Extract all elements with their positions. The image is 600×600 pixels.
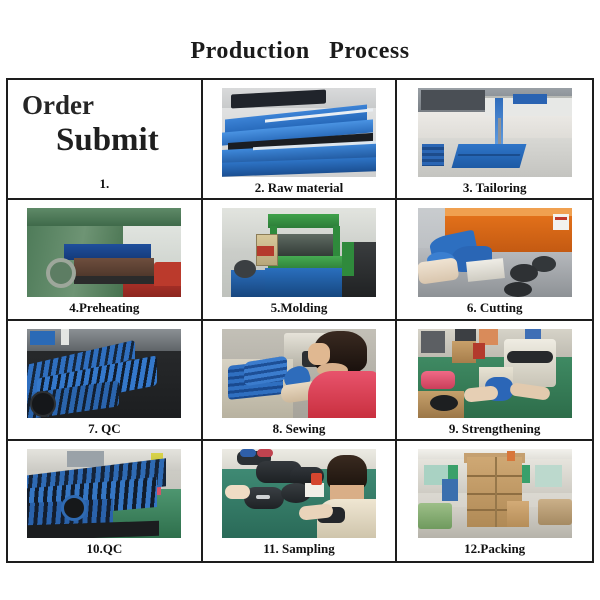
process-photo-qc-1 bbox=[27, 329, 181, 418]
process-caption-9: 9. Strengthening bbox=[449, 421, 541, 436]
process-cell-5[interactable]: 5.Molding bbox=[203, 200, 398, 320]
process-caption-1: 1. bbox=[99, 176, 109, 192]
process-cell-11[interactable]: 11. Sampling bbox=[203, 441, 398, 561]
process-caption-3: 3. Tailoring bbox=[463, 180, 527, 195]
process-caption-11: 11. Sampling bbox=[263, 541, 335, 556]
process-cell-8[interactable]: 8. Sewing bbox=[203, 321, 398, 441]
process-caption-4: 4.Preheating bbox=[69, 300, 139, 315]
process-photo-qc-2 bbox=[27, 449, 181, 538]
process-caption-5: 5.Molding bbox=[271, 300, 328, 315]
process-photo-preheating bbox=[27, 208, 181, 297]
page-title: Production Process bbox=[0, 38, 600, 65]
process-photo-strengthening bbox=[418, 329, 572, 418]
submit-label: Submit bbox=[8, 122, 201, 158]
process-photo-sewing bbox=[222, 329, 376, 418]
process-caption-6: 6. Cutting bbox=[467, 300, 523, 315]
process-photo-cutting bbox=[418, 208, 572, 297]
process-caption-7: 7. QC bbox=[88, 421, 121, 436]
process-photo-tailoring bbox=[418, 88, 572, 177]
process-caption-12: 12.Packing bbox=[464, 541, 525, 556]
process-cell-4[interactable]: 4.Preheating bbox=[8, 200, 203, 320]
order-label: Order bbox=[8, 90, 201, 120]
process-caption-2: 2. Raw material bbox=[255, 180, 343, 195]
process-cell-12[interactable]: 12.Packing bbox=[397, 441, 592, 561]
process-cell-9[interactable]: 9. Strengthening bbox=[397, 321, 592, 441]
process-photo-molding bbox=[222, 208, 376, 297]
process-cell-7[interactable]: 7. QC bbox=[8, 321, 203, 441]
process-photo-raw-material bbox=[222, 88, 376, 177]
process-caption-10: 10.QC bbox=[86, 541, 122, 556]
process-cell-2[interactable]: 2. Raw material bbox=[203, 80, 398, 200]
process-cell-1[interactable]: Order Submit 1. bbox=[8, 80, 203, 200]
production-process-page: Production Process Order Submit 1. 2. Ra… bbox=[0, 0, 600, 600]
process-caption-8: 8. Sewing bbox=[273, 421, 326, 436]
process-cell-6[interactable]: 6. Cutting bbox=[397, 200, 592, 320]
process-photo-packing bbox=[418, 449, 572, 538]
process-cell-3[interactable]: 3. Tailoring bbox=[397, 80, 592, 200]
process-photo-sampling bbox=[222, 449, 376, 538]
process-cell-10[interactable]: 10.QC bbox=[8, 441, 203, 561]
process-grid: Order Submit 1. 2. Raw material bbox=[6, 78, 594, 563]
